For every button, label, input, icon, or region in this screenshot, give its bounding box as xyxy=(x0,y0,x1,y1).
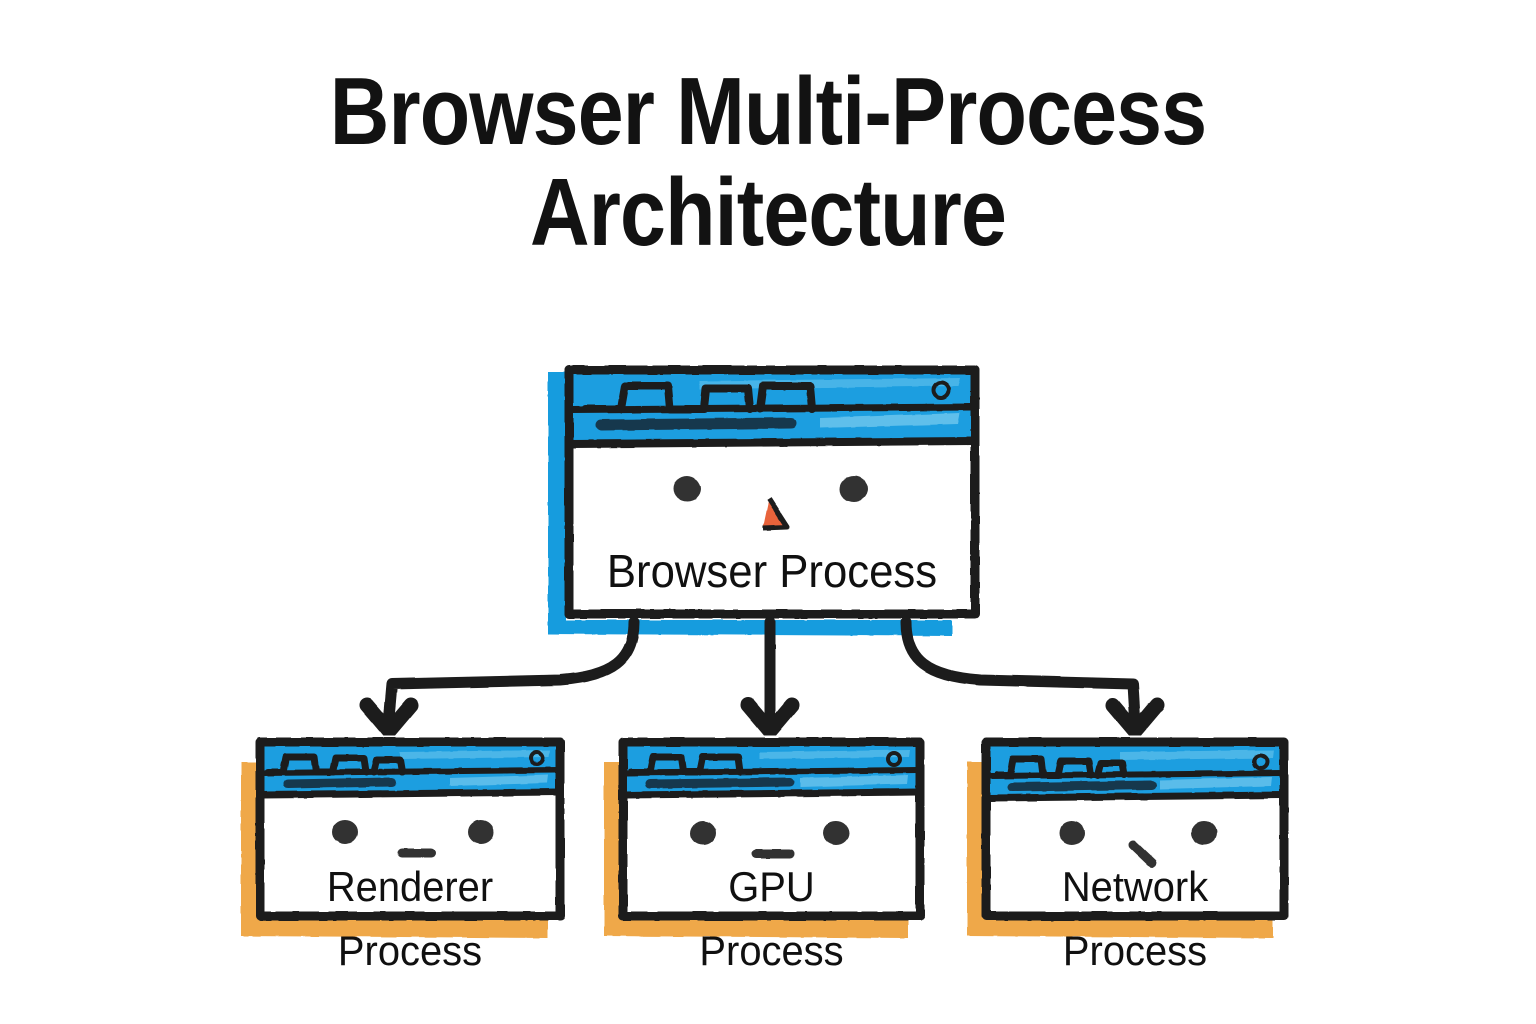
gpu-process-label-inner: GPU xyxy=(630,866,912,908)
gpu-process-label-outer: Process xyxy=(630,930,912,972)
renderer-process-url-bar xyxy=(288,782,392,784)
diagram-canvas: Browser Multi-Process Architecture xyxy=(0,0,1536,1024)
connector-group xyxy=(367,622,1157,731)
gpu-process-eye-left xyxy=(690,821,716,845)
gpu-process-url-bar xyxy=(650,782,790,784)
network-process-tabstrip-baseline xyxy=(989,773,1282,776)
gpu-process-tabstrip-baseline xyxy=(626,770,918,773)
renderer-process-eye-right xyxy=(468,820,494,844)
browser-process-titlebar-divider xyxy=(571,441,974,444)
browser-process-url-bar xyxy=(601,423,791,425)
network-process-eye-right xyxy=(1191,821,1217,845)
gpu-process-titlebar-divider xyxy=(625,792,919,795)
arrow-to-renderer-line xyxy=(389,622,634,718)
network-process-eye-left xyxy=(1059,821,1085,845)
browser-process-eye-right xyxy=(840,476,868,502)
gpu-process-eye-right xyxy=(823,821,849,845)
network-process-titlebar-divider xyxy=(988,795,1283,798)
renderer-process-label-outer: Process xyxy=(268,930,553,972)
browser-process-label: Browser Process xyxy=(579,548,965,594)
renderer-process-eye-left xyxy=(332,820,358,844)
arrow-to-network-line xyxy=(906,622,1135,718)
network-process-url-bar xyxy=(1012,785,1152,787)
browser-process-eye-left xyxy=(673,476,701,502)
network-process-label-outer: Process xyxy=(993,930,1276,972)
renderer-process-tabstrip-baseline xyxy=(263,770,558,773)
network-process-label-inner: Network xyxy=(993,866,1276,908)
browser-process-tabstrip-baseline xyxy=(572,407,972,410)
renderer-process-label-inner: Renderer xyxy=(268,866,553,908)
renderer-process-titlebar-divider xyxy=(262,792,559,795)
